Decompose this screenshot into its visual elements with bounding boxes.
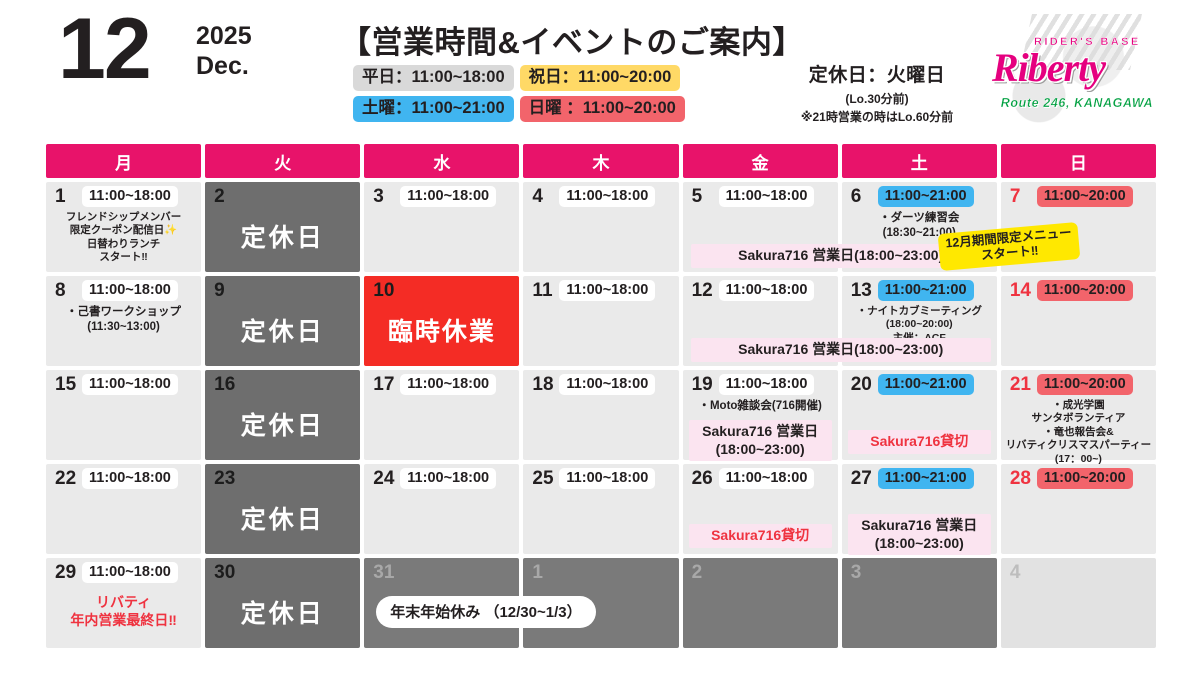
- day-event-note: ・Moto雑談会(716開催): [687, 399, 834, 414]
- calendar-day-cell[interactable]: 2411:00~18:00: [364, 464, 519, 554]
- calendar-day-cell[interactable]: 23定休日: [205, 464, 360, 554]
- regular-holiday-note: 定休日：火曜日 (Lo.30分前) ※21時営業の時はLo.60分前: [777, 60, 977, 125]
- logo-route: Route 246, KANAGAWA: [998, 96, 1156, 110]
- day-number: 26: [692, 469, 713, 488]
- hours-legend: 平日：11:00~18:00 祝日：11:00~20:00 土曜：11:00~2…: [353, 65, 685, 127]
- day-hours-pill: 11:00~18:00: [82, 280, 178, 301]
- day-hours-pill: 11:00~18:00: [82, 186, 178, 207]
- day-number: 7: [1010, 187, 1021, 206]
- logo-name: Riberty: [992, 44, 1157, 91]
- day-hours-pill: 11:00~20:00: [1037, 280, 1133, 301]
- calendar-day-cell[interactable]: 311:00~18:00: [364, 182, 519, 272]
- sakura716-band-week4-sat: Sakura716 営業日 (18:00~23:00): [848, 514, 991, 555]
- day-number: 24: [373, 469, 394, 488]
- day-hours-pill: 11:00~18:00: [400, 186, 496, 207]
- regular-holiday-label: 定休日: [205, 594, 360, 630]
- month-abbr-label: Dec.: [196, 52, 252, 82]
- calendar-day-cell[interactable]: 111:00~18:00フレンドシップメンバー 限定クーポン配信日✨ 日替わりラ…: [46, 182, 201, 272]
- day-number: 23: [214, 469, 235, 488]
- weekday-sat: 土: [842, 144, 997, 178]
- sakura716-rental-week4-fri: Sakura716貸切: [689, 524, 832, 548]
- day-number: 19: [692, 375, 713, 394]
- day-number: 31: [373, 563, 394, 582]
- day-event-note: フレンドシップメンバー 限定クーポン配信日✨ 日替わりランチ スタート‼: [50, 211, 197, 265]
- day-hours-pill: 11:00~20:00: [1037, 374, 1133, 395]
- riberty-logo: RIDER'S BASE Riberty Route 246, KANAGAWA: [988, 8, 1158, 130]
- sakura716-band-week2: Sakura716 営業日(18:00~23:00): [691, 338, 991, 362]
- calendar-day-cell[interactable]: 1511:00~18:00: [46, 370, 201, 460]
- calendar-day-cell[interactable]: 2811:00~20:00: [1001, 464, 1156, 554]
- weekday-sun: 日: [1001, 144, 1156, 178]
- day-hours-pill: 11:00~21:00: [878, 374, 974, 395]
- day-number: 1: [532, 563, 543, 582]
- day-number: 20: [851, 375, 872, 394]
- day-number: 9: [214, 281, 225, 300]
- legend-holiday-hours: 祝日：11:00~20:00: [520, 65, 681, 91]
- weekday-wed: 水: [364, 144, 519, 178]
- weekday-tue: 火: [205, 144, 360, 178]
- legend-row-2: 土曜：11:00~21:00 日曜 ：11:00~20:00: [353, 96, 685, 122]
- calendar-day-cell[interactable]: 2511:00~18:00: [523, 464, 678, 554]
- day-number: 4: [1010, 563, 1021, 582]
- day-number: 12: [692, 281, 713, 300]
- day-number: 25: [532, 469, 553, 488]
- day-event-note: ・成光学園 サンタボランティア ・竜也報告会& リバティクリスマスパーティー (…: [1005, 399, 1152, 466]
- calendar-day-cell[interactable]: 2911:00~18:00リバティ 年内営業最終日‼: [46, 558, 201, 648]
- weekday-mon: 月: [46, 144, 201, 178]
- day-number: 2: [214, 187, 225, 206]
- day-hours-pill: 11:00~21:00: [878, 186, 974, 207]
- day-hours-pill: 11:00~18:00: [82, 468, 178, 489]
- day-number: 14: [1010, 281, 1031, 300]
- day-hours-pill: 11:00~18:00: [400, 374, 496, 395]
- day-hours-pill: 11:00~18:00: [400, 468, 496, 489]
- month-number: 12: [58, 6, 150, 92]
- day-number: 5: [692, 187, 703, 206]
- weekday-header-row: 月 火 水 木 金 土 日: [46, 144, 1156, 178]
- calendar-day-cell[interactable]: 1711:00~18:00: [364, 370, 519, 460]
- calendar-day-cell[interactable]: 2定休日: [205, 182, 360, 272]
- day-number: 1: [55, 187, 66, 206]
- day-event-note: ・己書ワークショップ (11:30~13:00): [50, 305, 197, 334]
- calendar: 月 火 水 木 金 土 日 111:00~18:00フレンドシップメンバー 限定…: [46, 144, 1156, 652]
- day-hours-pill: 11:00~18:00: [82, 562, 178, 583]
- regular-holiday-main: 定休日：火曜日: [777, 60, 977, 87]
- regular-holiday-label: 定休日: [205, 406, 360, 442]
- calendar-day-cell[interactable]: 10臨時休業: [364, 276, 519, 366]
- sakura716-band-week3-fri: Sakura716 営業日 (18:00~23:00): [689, 420, 832, 461]
- day-number: 2: [692, 563, 703, 582]
- weekday-thu: 木: [523, 144, 678, 178]
- day-number: 22: [55, 469, 76, 488]
- day-hours-pill: 11:00~20:00: [1037, 468, 1133, 489]
- day-number: 15: [55, 375, 76, 394]
- regular-holiday-label: 定休日: [205, 500, 360, 536]
- legend-saturday-hours: 土曜：11:00~21:00: [353, 96, 514, 122]
- day-hours-pill: 11:00~21:00: [878, 280, 974, 301]
- day-number: 17: [373, 375, 394, 394]
- day-hours-pill: 11:00~18:00: [719, 468, 815, 489]
- day-number: 4: [532, 187, 543, 206]
- last-order-note: (Lo.30分前): [777, 90, 977, 107]
- day-hours-pill: 11:00~18:00: [719, 374, 815, 395]
- year-label: 2025: [196, 22, 252, 52]
- calendar-day-cell[interactable]: 4: [1001, 558, 1156, 648]
- day-number: 3: [851, 563, 862, 582]
- day-number: 18: [532, 375, 553, 394]
- day-event-note-highlight: リバティ 年内営業最終日‼: [50, 594, 197, 630]
- day-number: 27: [851, 469, 872, 488]
- calendar-day-cell[interactable]: 30定休日: [205, 558, 360, 648]
- legend-sunday-hours: 日曜 ：11:00~20:00: [520, 96, 685, 122]
- calendar-day-cell[interactable]: 2111:00~20:00・成光学園 サンタボランティア ・竜也報告会& リバテ…: [1001, 370, 1156, 460]
- day-hours-pill: 11:00~18:00: [82, 374, 178, 395]
- calendar-day-cell[interactable]: 9定休日: [205, 276, 360, 366]
- sakura716-rental-week3-sat: Sakura716貸切: [848, 430, 991, 454]
- calendar-day-cell[interactable]: 3: [842, 558, 997, 648]
- day-number: 6: [851, 187, 862, 206]
- calendar-grid: 111:00~18:00フレンドシップメンバー 限定クーポン配信日✨ 日替わりラ…: [46, 182, 1156, 648]
- new-year-break-banner: 年末年始休み （12/30~1/3）: [376, 596, 595, 628]
- calendar-day-cell[interactable]: 1411:00~20:00: [1001, 276, 1156, 366]
- calendar-day-cell[interactable]: 2: [683, 558, 838, 648]
- legend-weekday-hours: 平日：11:00~18:00: [353, 65, 514, 91]
- day-number: 11: [532, 281, 552, 300]
- day-hours-pill: 11:00~18:00: [719, 186, 815, 207]
- day-number: 13: [851, 281, 872, 300]
- calendar-day-cell[interactable]: 16定休日: [205, 370, 360, 460]
- day-hours-pill: 11:00~18:00: [559, 468, 655, 489]
- day-number: 10: [373, 281, 394, 300]
- day-number: 28: [1010, 469, 1031, 488]
- day-hours-pill: 11:00~18:00: [559, 374, 655, 395]
- legend-row-1: 平日：11:00~18:00 祝日：11:00~20:00: [353, 65, 685, 91]
- calendar-page: 12 2025 Dec. 【営業時間&イベントのご案内】 平日：11:00~18…: [0, 0, 1200, 675]
- day-number: 21: [1010, 375, 1031, 394]
- day-number: 8: [55, 281, 66, 300]
- day-number: 30: [214, 563, 235, 582]
- page-title: 【営業時間&イベントのご案内】: [340, 17, 804, 62]
- regular-holiday-label: 定休日: [205, 312, 360, 348]
- day-hours-pill: 11:00~18:00: [559, 280, 655, 301]
- last-order-note-21h: ※21時営業の時はLo.60分前: [777, 108, 977, 125]
- year-month-block: 2025 Dec.: [196, 22, 252, 81]
- regular-holiday-label: 定休日: [205, 218, 360, 254]
- calendar-day-cell[interactable]: 1111:00~18:00: [523, 276, 678, 366]
- calendar-day-cell[interactable]: 411:00~18:00: [523, 182, 678, 272]
- day-hours-pill: 11:00~21:00: [878, 468, 974, 489]
- day-number: 3: [373, 187, 384, 206]
- day-number: 29: [55, 563, 76, 582]
- calendar-day-cell[interactable]: 1811:00~18:00: [523, 370, 678, 460]
- day-hours-pill: 11:00~18:00: [719, 280, 815, 301]
- calendar-week-row: 2911:00~18:00リバティ 年内営業最終日‼30定休日311234: [46, 558, 1156, 648]
- day-hours-pill: 11:00~18:00: [559, 186, 655, 207]
- temporary-closure-label: 臨時休業: [364, 312, 519, 348]
- calendar-day-cell[interactable]: 811:00~18:00・己書ワークショップ (11:30~13:00): [46, 276, 201, 366]
- page-header: 12 2025 Dec. 【営業時間&イベントのご案内】 平日：11:00~18…: [0, 0, 1200, 140]
- weekday-fri: 金: [683, 144, 838, 178]
- calendar-day-cell[interactable]: 2211:00~18:00: [46, 464, 201, 554]
- day-number: 16: [214, 375, 235, 394]
- day-hours-pill: 11:00~20:00: [1037, 186, 1133, 207]
